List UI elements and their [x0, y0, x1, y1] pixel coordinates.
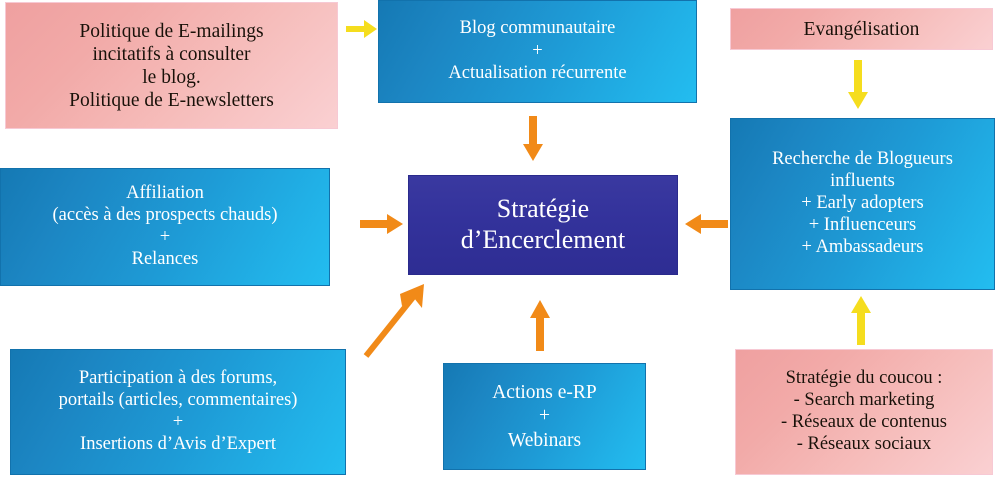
box-line: + Early adopters: [801, 193, 923, 215]
arrow-blog-to-center: [521, 116, 545, 162]
diagram-canvas: Politique de E-mailings incitatifs à con…: [0, 0, 1000, 478]
box-blog-communautaire[interactable]: Blog communautaire + Actualisation récur…: [378, 0, 697, 103]
box-line-plus: +: [532, 40, 542, 63]
box-strategie-coucou[interactable]: Stratégie du coucou : - Search marketing…: [735, 349, 993, 475]
box-actions-erp[interactable]: Actions e-RP + Webinars: [443, 363, 646, 470]
box-participation-forums[interactable]: Participation à des forums, portails (ar…: [10, 349, 346, 475]
arrow-erp-to-center: [528, 300, 552, 352]
arrow-coucou-to-blogueurs: [849, 296, 873, 346]
box-line: d’Encerclement: [461, 225, 626, 256]
box-line: Evangélisation: [804, 18, 920, 41]
box-line: influents: [830, 171, 895, 193]
box-line: Webinars: [508, 429, 581, 452]
box-line: le blog.: [142, 66, 201, 89]
box-line: Politique de E-mailings: [79, 20, 263, 43]
box-line: - Search marketing: [794, 390, 935, 412]
box-recherche-blogueurs[interactable]: Recherche de Blogueurs influents + Early…: [730, 118, 995, 290]
box-line: Relances: [132, 249, 199, 271]
box-line-plus: +: [539, 404, 550, 428]
box-line: + Ambassadeurs: [802, 237, 924, 259]
box-line: Actions e-RP: [492, 381, 597, 404]
box-line: - Réseaux de contenus: [781, 412, 947, 434]
box-line: Participation à des forums,: [79, 368, 277, 390]
arrow-emailings-to-blog: [346, 18, 378, 40]
box-line: (accès à des prospects chauds): [53, 205, 278, 227]
box-line: Affiliation: [126, 183, 204, 205]
box-line: Politique de E-newsletters: [69, 89, 274, 112]
arrow-evangelisation-to-blogueurs: [846, 60, 870, 110]
box-line: portails (articles, commentaires): [59, 390, 298, 412]
box-line: Stratégie du coucou :: [786, 368, 943, 390]
arrow-affiliation-to-center: [360, 212, 404, 236]
box-line: incitatifs à consulter: [92, 43, 250, 66]
box-line: Stratégie: [497, 194, 589, 225]
arrow-blogueurs-to-center: [684, 212, 728, 236]
box-evangelisation[interactable]: Evangélisation: [730, 8, 993, 50]
box-line: Recherche de Blogueurs: [772, 149, 953, 171]
box-line: + Influenceurs: [809, 215, 917, 237]
box-line-plus: +: [160, 226, 170, 249]
box-line: Insertions d’Avis d’Expert: [80, 434, 276, 456]
box-politique-emailings[interactable]: Politique de E-mailings incitatifs à con…: [5, 2, 338, 129]
box-affiliation[interactable]: Affiliation (accès à des prospects chaud…: [0, 168, 330, 286]
box-line: - Réseaux sociaux: [797, 434, 932, 456]
box-line-plus: +: [173, 411, 183, 434]
box-line: Blog communautaire: [460, 18, 616, 40]
arrow-forums-to-center: [360, 282, 430, 360]
box-strategie-encerclement[interactable]: Stratégie d’Encerclement: [408, 175, 678, 275]
box-line: Actualisation récurrente: [448, 63, 626, 85]
